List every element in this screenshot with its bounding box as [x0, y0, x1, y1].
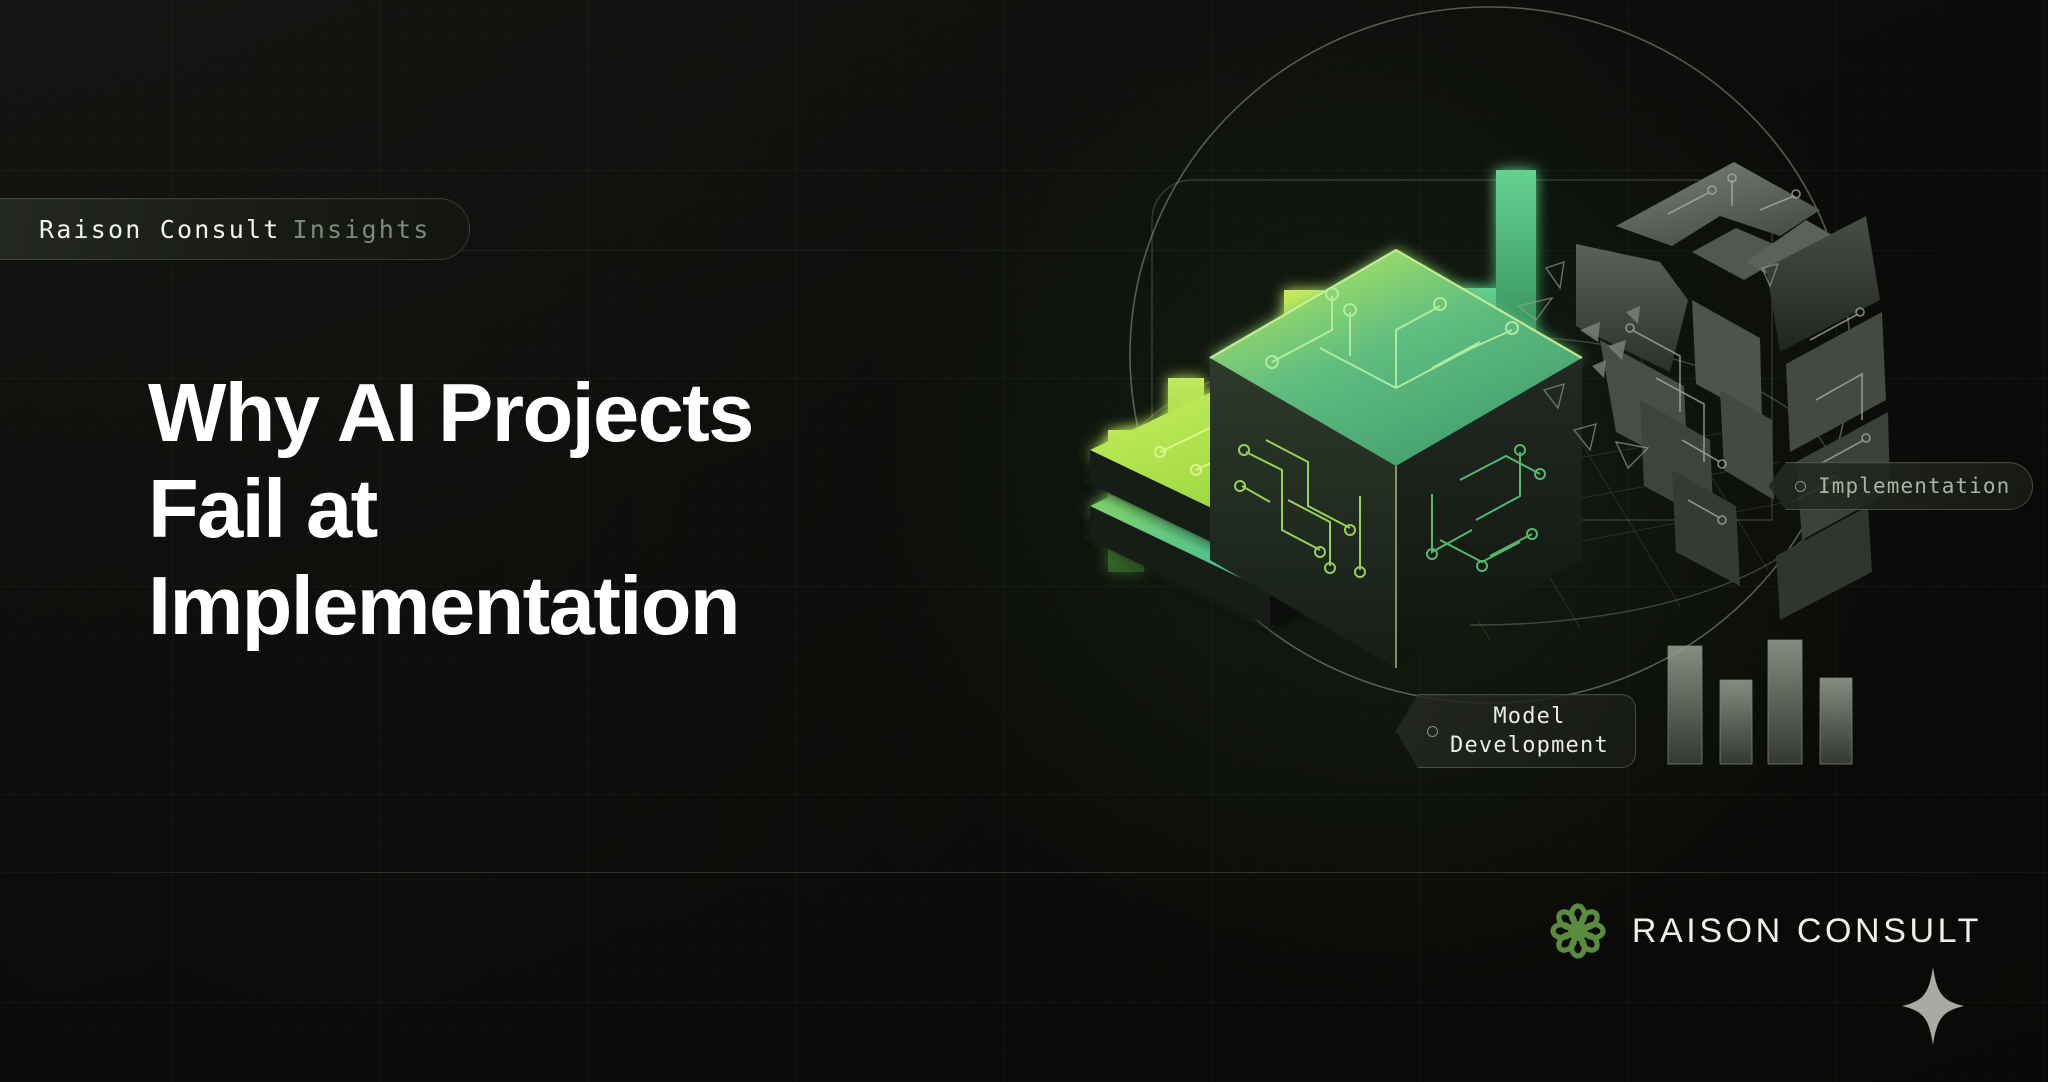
circle-dot-icon [1427, 726, 1438, 737]
circle-dot-icon [1795, 481, 1806, 492]
insights-badge[interactable]: Raison Consult Insights [0, 198, 470, 260]
label-model-development-text: Model Development [1450, 702, 1609, 760]
page-title: Why AI Projects Fail at Implementation [148, 365, 948, 654]
label-implementation[interactable]: Implementation [1768, 462, 2033, 510]
flower-rosette-icon [1550, 903, 1606, 959]
headline-line-1: Why AI Projects [148, 365, 948, 461]
badge-category: Insights [293, 215, 431, 244]
headline-line-3: Implementation [148, 558, 948, 654]
brand-logo[interactable]: RAISON CONSULT [1550, 903, 1982, 959]
hero-canvas: Implementation Model Development Raison … [0, 0, 2048, 1082]
label-line-1: Model [1493, 704, 1565, 729]
label-line-2: Development [1450, 733, 1609, 758]
brand-wordmark: RAISON CONSULT [1632, 912, 1982, 951]
label-implementation-text: Implementation [1818, 474, 2010, 498]
badge-brand-name: Raison Consult [39, 215, 281, 244]
muted-bar-chart [1668, 640, 1852, 764]
headline-line-2: Fail at [148, 461, 948, 557]
label-model-development[interactable]: Model Development [1396, 694, 1636, 768]
four-point-star-icon [1900, 965, 1966, 1047]
